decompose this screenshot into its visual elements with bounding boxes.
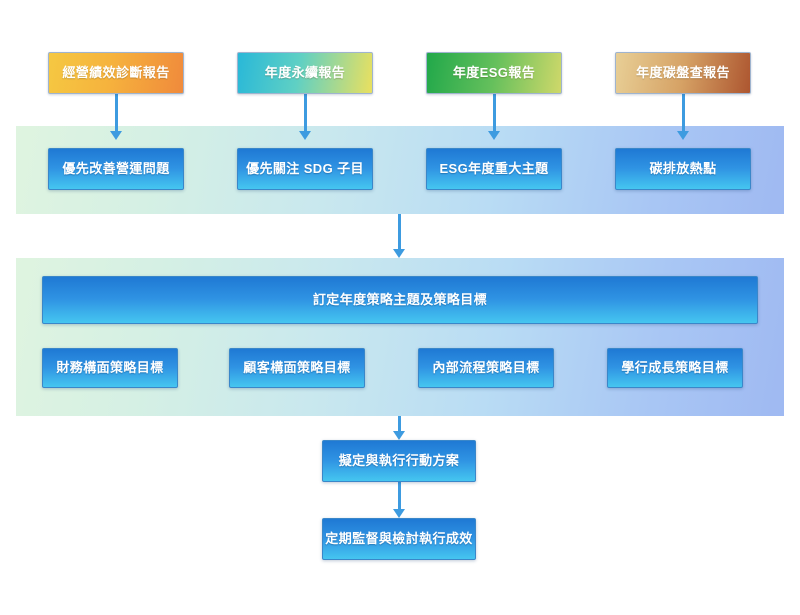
action-plan-label: 擬定與執行行動方案 [339,453,460,469]
arrow-shaft [115,94,118,133]
finding-label-1: 優先改善營運問題 [62,161,169,177]
finding-box-3[interactable]: ESG年度重大主題 [426,148,562,190]
source-report-box-2[interactable]: 年度永續報告 [237,52,373,94]
arrow-shaft [398,482,401,511]
finding-label-4: 碳排放熱點 [649,161,716,177]
arrow-head-down-icon [393,509,405,518]
strategy-flow-diagram: 經營績效診斷報告 年度永續報告 年度ESG報告 年度碳盤查報告 優先改善營運問題… [0,0,800,615]
arrow-shaft [493,94,496,133]
source-report-label-3: 年度ESG報告 [453,65,535,81]
finding-label-3: ESG年度重大主題 [439,161,548,177]
review-label: 定期監督與檢討執行成效 [325,531,472,547]
source-report-box-1[interactable]: 經營績效診斷報告 [48,52,184,94]
source-report-label-1: 經營績效診斷報告 [62,65,169,81]
arrow-shaft [304,94,307,133]
strategy-headline-bar[interactable]: 訂定年度策略主題及策略目標 [42,276,758,324]
source-report-label-4: 年度碳盤查報告 [636,65,730,81]
finding-box-2[interactable]: 優先關注 SDG 子目 [237,148,373,190]
arrow-head-down-icon [393,431,405,440]
perspective-label-4: 學行成長策略目標 [621,360,728,376]
perspective-label-2: 顧客構面策略目標 [243,360,350,376]
arrow-strategy-to-action [392,416,406,442]
arrow-shaft [682,94,685,133]
arrow-shaft [398,214,401,251]
arrow-source-to-finding-1 [109,94,123,142]
perspective-label-3: 內部流程策略目標 [432,360,539,376]
arrow-head-down-icon [677,131,689,140]
finding-box-4[interactable]: 碳排放熱點 [615,148,751,190]
arrow-source-to-finding-3 [487,94,501,142]
action-plan-box[interactable]: 擬定與執行行動方案 [322,440,476,482]
perspective-box-financial[interactable]: 財務構面策略目標 [42,348,178,388]
arrow-head-down-icon [393,249,405,258]
finding-label-2: 優先關注 SDG 子目 [246,161,364,177]
arrow-head-down-icon [299,131,311,140]
source-report-label-2: 年度永續報告 [265,65,345,81]
perspective-box-internal-process[interactable]: 內部流程策略目標 [418,348,554,388]
source-report-box-4[interactable]: 年度碳盤查報告 [615,52,751,94]
source-report-box-3[interactable]: 年度ESG報告 [426,52,562,94]
finding-box-1[interactable]: 優先改善營運問題 [48,148,184,190]
arrow-source-to-finding-2 [298,94,312,142]
perspective-box-customer[interactable]: 顧客構面策略目標 [229,348,365,388]
arrow-action-to-review [392,482,406,520]
perspective-label-1: 財務構面策略目標 [56,360,163,376]
arrow-head-down-icon [110,131,122,140]
arrow-head-down-icon [488,131,500,140]
perspective-box-learning-growth[interactable]: 學行成長策略目標 [607,348,743,388]
arrow-findings-to-strategy [392,214,406,260]
strategy-headline-label: 訂定年度策略主題及策略目標 [313,292,487,308]
review-box[interactable]: 定期監督與檢討執行成效 [322,518,476,560]
arrow-source-to-finding-4 [676,94,690,142]
